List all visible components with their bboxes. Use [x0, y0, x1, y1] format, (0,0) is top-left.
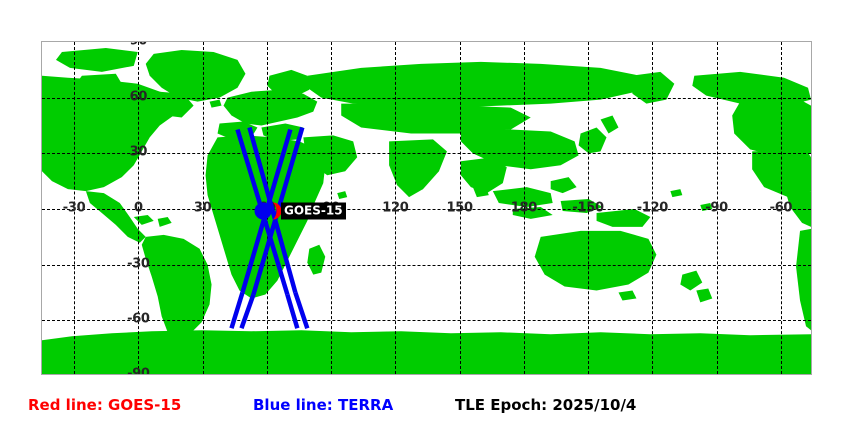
- legend-footer: Red line: GOES-15 Blue line: TERRA TLE E…: [0, 394, 850, 425]
- lon-tick-30: 30: [194, 201, 212, 216]
- lat-tick--60: -60: [127, 312, 150, 327]
- satellite-label-goes: GOES-15: [281, 203, 346, 220]
- lon-tick--120: -120: [637, 201, 668, 216]
- lat-tick-30: 30: [130, 145, 148, 160]
- satellite-ground-track-app: -30 0 30 60 90 120 150 180 -150 -120 -90…: [0, 0, 850, 425]
- lon-tick-180: 180: [511, 201, 537, 216]
- lat-tick--90: -90: [127, 367, 150, 376]
- legend-blue-line-terra: Blue line: TERRA: [253, 396, 393, 414]
- lon-tick-0: 0: [134, 201, 143, 216]
- lat-tick-90: 90: [130, 41, 148, 49]
- lat-tick--30: -30: [127, 256, 150, 271]
- lon-tick--30: -30: [63, 201, 86, 216]
- legend-tle-epoch: TLE Epoch: 2025/10/4: [455, 396, 636, 414]
- satellite-marker-goes[interactable]: [265, 203, 282, 220]
- lon-tick-150: 150: [446, 201, 472, 216]
- landmass-layer: [42, 42, 811, 374]
- lon-tick--90: -90: [705, 201, 728, 216]
- lon-tick--60: -60: [770, 201, 793, 216]
- world-map-plot[interactable]: -30 0 30 60 90 120 150 180 -150 -120 -90…: [41, 41, 812, 375]
- lon-tick-120: 120: [382, 201, 408, 216]
- legend-red-line-goes15: Red line: GOES-15: [28, 396, 181, 414]
- lon-tick--150: -150: [572, 201, 603, 216]
- lat-tick-60: 60: [130, 89, 148, 104]
